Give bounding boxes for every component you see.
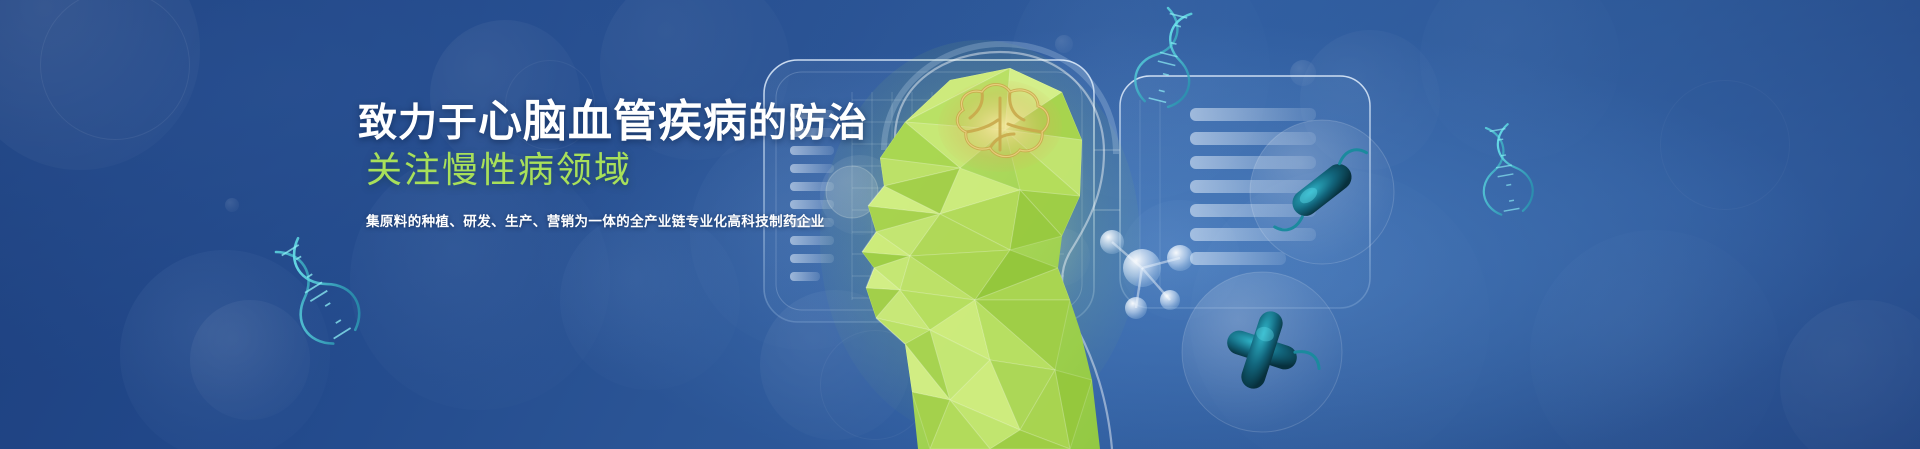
banner-description: 集原料的种植、研发、生产、营销为一体的全产业链专业化高科技制药企业 — [366, 212, 825, 232]
headline-emphasis: 心脑血管疾病 — [478, 97, 748, 146]
banner-headline: 致力于心脑血管疾病的防治 — [358, 99, 868, 147]
hero-banner: 致力于心脑血管疾病的防治 关注慢性病领域 集原料的种植、研发、生产、营销为一体的… — [0, 0, 1920, 449]
headline-prefix: 致力于 — [358, 102, 478, 145]
banner-text-block: 致力于心脑血管疾病的防治 关注慢性病领域 集原料的种植、研发、生产、营销为一体的… — [0, 0, 1920, 449]
banner-subheadline: 关注慢性病领域 — [366, 148, 632, 192]
headline-suffix: 的防治 — [748, 102, 868, 145]
